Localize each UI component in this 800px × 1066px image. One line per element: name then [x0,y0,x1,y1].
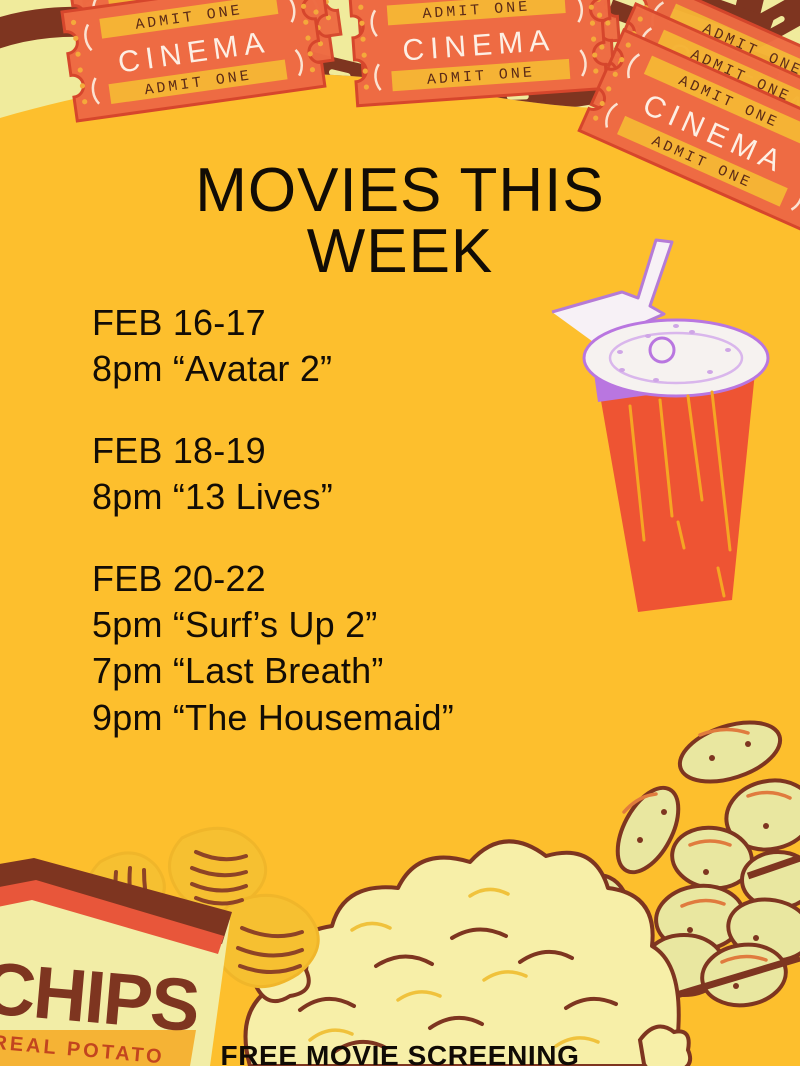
film-reel-icon [0,0,800,97]
chips-bag: CHIPS REAL POTATO [0,858,232,1066]
movie-schedule-poster: ADMIT ONE ADMIT ONE CINEMA [0,0,800,1066]
page-title: MOVIES THIS WEEK [0,160,800,283]
showtime-row: 9pm “The Housemaid” [92,695,612,741]
potato-crisps [87,828,318,986]
schedule-block: FEB 16-17 8pm “Avatar 2” [92,300,612,392]
showtime-row: 5pm “Surf’s Up 2” [92,602,612,648]
showtime-row: 8pm “13 Lives” [92,474,612,520]
ticket-cluster-middle [350,0,619,106]
schedule-block: FEB 20-22 5pm “Surf’s Up 2” 7pm “Last Br… [92,556,612,740]
chips-brand-label: CHIPS [0,946,202,1048]
schedule-dates: FEB 16-17 [92,300,612,346]
showtime-row: 8pm “Avatar 2” [92,346,612,392]
showtime-row: 7pm “Last Breath” [92,648,612,694]
schedule-dates: FEB 18-19 [92,428,612,474]
schedule-block: FEB 18-19 8pm “13 Lives” [92,428,612,520]
schedule-list: FEB 16-17 8pm “Avatar 2” FEB 18-19 8pm “… [92,300,612,741]
schedule-dates: FEB 20-22 [92,556,612,602]
free-screening-banner: FREE MOVIE SCREENING [0,1040,800,1066]
ticket-cluster-left [62,0,341,121]
